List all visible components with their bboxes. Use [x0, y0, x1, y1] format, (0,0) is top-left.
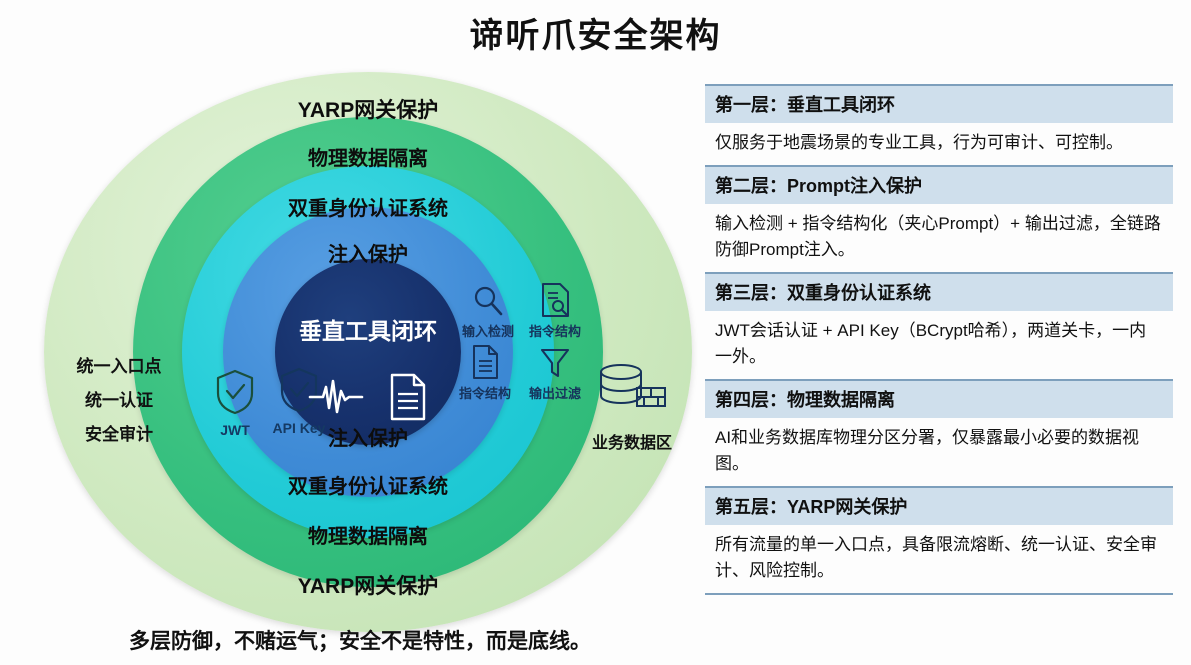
layer-heading-2: 第二层：Prompt注入保护 [705, 165, 1173, 204]
page-title: 谛听爪安全架构 [0, 8, 1191, 57]
ring-label-yarp-bottom: YARP网关保护 [38, 570, 698, 600]
layer-heading-1: 第一层：垂直工具闭环 [705, 84, 1173, 123]
layer-body-4: AI和业务数据库物理分区分署，仅暴露最小必要的数据视图。 [705, 418, 1173, 486]
shield-check-icon [214, 403, 256, 420]
ring-label-physical-top: 物理数据隔离 [38, 142, 698, 171]
layer-heading-5: 第五层：YARP网关保护 [705, 486, 1173, 525]
mini-icon-instruction-structure-bottom-label: 指令结构 [448, 383, 522, 402]
shield-jwt: JWT [204, 368, 266, 438]
left-note-audit: 安全审计 [44, 418, 194, 452]
ring-label-injection-top: 注入保护 [38, 238, 698, 267]
database-icon [595, 407, 669, 424]
core-label: 垂直工具闭环 [38, 312, 698, 346]
concentric-security-diagram: YARP网关保护 物理数据隔离 双重身份认证系统 注入保护 注入保护 双重身份认… [38, 72, 698, 632]
ring-label-physical-bottom: 物理数据隔离 [38, 520, 698, 549]
layer-description-panel: 第一层：垂直工具闭环 仅服务于地震场景的专业工具，行为可审计、可控制。 第二层：… [705, 84, 1173, 595]
left-note-auth: 统一认证 [44, 384, 194, 418]
ring-label-yarp-top: YARP网关保护 [38, 94, 698, 124]
database-zone: 业务数据区 [566, 362, 698, 453]
ring-label-dual-auth-top: 双重身份认证系统 [38, 192, 698, 221]
footer-caption: 多层防御，不赌运气；安全不是特性，而是底线。 [30, 625, 690, 655]
layer-heading-3: 第三层：双重身份认证系统 [705, 272, 1173, 311]
layer-body-3: JWT会话认证 + API Key（BCrypt哈希），两道关卡，一内一外。 [705, 311, 1173, 379]
panel-bottom-rule [705, 593, 1173, 595]
database-zone-label: 业务数据区 [566, 429, 698, 453]
layer-body-5: 所有流量的单一入口点，具备限流熔断、统一认证、安全审计、风险控制。 [705, 525, 1173, 593]
layer-heading-4: 第四层：物理数据隔离 [705, 379, 1173, 418]
layer-body-2: 输入检测 + 指令结构化（夹心Prompt）+ 输出过滤，全链路防御Prompt… [705, 204, 1173, 272]
document-lines-icon [470, 367, 500, 384]
document-icon [388, 372, 428, 427]
core-icon-group [308, 372, 428, 427]
left-notes-group: 统一入口点 统一认证 安全审计 [44, 350, 194, 452]
shield-jwt-label: JWT [204, 422, 266, 438]
layer-body-1: 仅服务于地震场景的专业工具，行为可审计、可控制。 [705, 123, 1173, 165]
mini-icon-instruction-structure-bottom: 指令结构 [448, 344, 522, 402]
pulse-wave-icon [308, 378, 364, 421]
left-note-entry: 统一入口点 [44, 350, 194, 384]
ring-label-dual-auth-bottom: 双重身份认证系统 [38, 470, 698, 499]
